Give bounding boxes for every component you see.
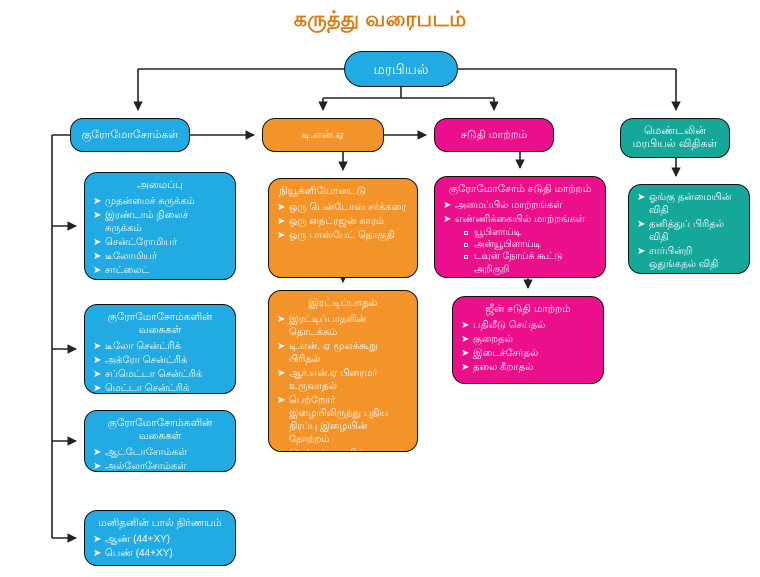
list-item-label: ஆர்.என்.ஏ பிரைமர் உருவாதல் — [289, 368, 378, 392]
arrow-bullet-icon: ➤ — [277, 313, 285, 326]
list-item-label: டி.என். ஏ மூலக்கூறு பிரிதல் — [289, 341, 378, 365]
arrow-bullet-icon: ➤ — [93, 236, 101, 249]
arrow-bullet-icon: ➤ — [277, 394, 285, 407]
list-item: ➤டீலோ சென்ட்ரிக் — [93, 340, 227, 353]
list-item-label: இரண்டாம் நிலைச் சுருக்கம் — [105, 210, 188, 234]
arrow-bullet-icon: ➤ — [277, 201, 285, 214]
list-item: ➤இரட்டிப்பாதலின் முடிவு — [277, 447, 409, 452]
detail-box-mendel-laws[interactable]: ➤ஓங்கு தன்மையின் விதி➤தனித்துப் பிரிதல் … — [628, 184, 750, 274]
list-item-label: ஆண் (44+XY) — [105, 534, 170, 545]
arrow-bullet-icon: ➤ — [93, 250, 101, 263]
detail-box-replication-list: ➤இரட்டிப்பாதலின் தொடக்கம்➤டி.என். ஏ மூலக… — [277, 313, 409, 452]
arrow-bullet-icon: ➤ — [93, 354, 101, 367]
sub-list-item-label: டவுன் நோய்க் கூட்டு அறிகுறி — [474, 251, 563, 274]
list-item-label: சென்ட்ரோமியர் — [105, 237, 177, 248]
branch-node-mutation-label: சடுதி மாற்றம் — [455, 129, 533, 142]
detail-box-nucleotide[interactable]: நியூக்ளியோடைடு ➤ஒரு பென்டோஸ் சர்க்கரை➤ஒர… — [268, 178, 418, 278]
list-item: ➤ஆண் (44+XY) — [93, 533, 227, 546]
list-item-label: மெட்டா சென்ட்ரிக் — [105, 383, 189, 394]
list-item: ➤சப்மெட்டா சென்ட்ரிக் — [93, 368, 227, 381]
list-item: ➤ஆட்டோசோம்கள் — [93, 446, 227, 459]
root-node-label: மரபியல் — [368, 61, 435, 78]
detail-box-structure-list: ➤முதன்மைச் சுருக்கம்➤இரண்டாம் நிலைச் சுர… — [93, 195, 227, 277]
detail-box-structure[interactable]: அமைப்பு ➤முதன்மைச் சுருக்கம்➤இரண்டாம் நி… — [84, 172, 236, 280]
detail-box-mendel-laws-list: ➤ஓங்கு தன்மையின் விதி➤தனித்துப் பிரிதல் … — [637, 191, 741, 271]
list-item-label: சாட்லைட் — [105, 265, 149, 276]
concept-map-canvas: கருத்து வரைபடம் — [0, 0, 760, 577]
arrow-bullet-icon: ➤ — [93, 446, 101, 459]
arrow-bullet-icon: ➤ — [277, 447, 285, 452]
list-item: ➤பதிலீடு செய்தல் — [461, 319, 595, 332]
arrow-bullet-icon: ➤ — [637, 218, 645, 231]
list-item: ➤அக்ரோ சென்ட்ரிக் — [93, 354, 227, 367]
list-item-label: பெற்றோர் இழையிலிருந்து புதிய நிரப்பு இழை… — [289, 395, 388, 445]
list-item: ➤இரண்டாம் நிலைச் சுருக்கம் — [93, 209, 227, 235]
arrow-bullet-icon: ➤ — [461, 319, 469, 332]
list-item-label: டீலோ சென்ட்ரிக் — [105, 341, 181, 352]
arrow-bullet-icon: ➤ — [93, 382, 101, 394]
branch-node-dna-label: டி.என்.ஏ — [296, 129, 351, 142]
arrow-bullet-icon: ➤ — [443, 199, 451, 212]
sub-list-item-label: அன்யூபிளாய்டி — [474, 239, 541, 250]
sub-list: யூபிளாய்டிஅன்யூபிளாய்டிடவுன் நோய்க் கூட்… — [455, 227, 597, 276]
arrow-bullet-icon: ➤ — [93, 533, 101, 546]
list-item: ➤குறைதல் — [461, 333, 595, 346]
detail-box-chromosome-types-function-title: குரோமோசோம்களின் வகைகள் — [93, 417, 227, 443]
list-item: ➤சென்ட்ரோமியர் — [93, 236, 227, 249]
detail-box-chromosome-types-function[interactable]: குரோமோசோம்களின் வகைகள் ➤ஆட்டோசோம்கள்➤அல்… — [84, 410, 236, 472]
detail-box-sex-determination-list: ➤ஆண் (44+XY)➤பெண் (44+XY) — [93, 533, 227, 560]
arrow-bullet-icon: ➤ — [93, 209, 101, 222]
list-item-label: பெண் (44+XY) — [105, 548, 173, 559]
square-bullet-icon — [464, 231, 468, 235]
list-item: ➤சார்பின்றி ஒதுங்கதல் விதி — [637, 245, 741, 271]
list-item: ➤தனித்துப் பிரிதல் விதி — [637, 218, 741, 244]
list-item-label: தலை கீறாதல் — [473, 362, 533, 373]
list-item-label: தனித்துப் பிரிதல் விதி — [649, 219, 724, 243]
arrow-bullet-icon: ➤ — [637, 191, 645, 204]
list-item: ➤முதன்மைச் சுருக்கம் — [93, 195, 227, 208]
list-item: ➤சாட்லைட் — [93, 264, 227, 277]
arrow-bullet-icon: ➤ — [93, 340, 101, 353]
arrow-bullet-icon: ➤ — [461, 333, 469, 346]
sub-list-item-label: யூபிளாய்டி — [474, 227, 521, 238]
sub-list-item: யூபிளாய்டி — [463, 227, 597, 239]
list-item: ➤அமைப்பில் மாற்றங்கள் — [443, 199, 597, 212]
arrow-bullet-icon: ➤ — [461, 347, 469, 360]
detail-box-replication-title: இரட்டிப்பாதல் — [277, 297, 409, 310]
list-item: ➤மெட்டா சென்ட்ரிக் — [93, 382, 227, 394]
branch-node-mendel-laws-label: மெண்டலின் மரபியல் விதிகள் — [621, 125, 729, 151]
list-item-label: ஒரு பாஸ்பேட் தொகுதி — [289, 230, 395, 241]
list-item-label: ஒரு பென்டோஸ் சர்க்கரை — [289, 202, 406, 213]
list-item-label: எண்ணிக்கையில் மாற்றங்கள் — [455, 214, 585, 225]
sub-list-item: டவுன் நோய்க் கூட்டு அறிகுறி — [463, 251, 597, 276]
detail-box-gene-mutation-title: ஜீன் சடுதி மாற்றம் — [461, 303, 595, 316]
list-item-label: ஓங்கு தன்மையின் விதி — [649, 192, 731, 216]
detail-box-gene-mutation[interactable]: ஜீன் சடுதி மாற்றம் ➤பதிலீடு செய்தல்➤குறை… — [452, 296, 604, 384]
arrow-bullet-icon: ➤ — [93, 460, 101, 472]
arrow-bullet-icon: ➤ — [93, 547, 101, 560]
list-item-label: முதன்மைச் சுருக்கம் — [105, 196, 195, 207]
branch-node-mutation[interactable]: சடுதி மாற்றம் — [434, 118, 554, 152]
list-item-label: பதிலீடு செய்தல் — [473, 320, 545, 331]
detail-box-chromosome-mutation-list: ➤அமைப்பில் மாற்றங்கள்➤எண்ணிக்கையில் மாற்… — [443, 199, 597, 276]
list-item: ➤டீலோமியர் — [93, 250, 227, 263]
list-item-label: சார்பின்றி ஒதுங்கதல் விதி — [649, 246, 718, 270]
root-node-heredity[interactable]: மரபியல் — [344, 51, 458, 87]
list-item: ➤எண்ணிக்கையில் மாற்றங்கள்யூபிளாய்டிஅன்யூ… — [443, 213, 597, 276]
list-item-label: அல்லோசோம்கள் — [105, 461, 186, 472]
arrow-bullet-icon: ➤ — [277, 367, 285, 380]
list-item-label: ஆட்டோசோம்கள் — [105, 447, 187, 458]
detail-box-replication[interactable]: இரட்டிப்பாதல் ➤இரட்டிப்பாதலின் தொடக்கம்➤… — [268, 290, 418, 452]
arrow-bullet-icon: ➤ — [461, 361, 469, 374]
detail-box-chromosome-mutation-title: குரோமோசோம் சடுதி மாற்றம் — [443, 183, 597, 196]
list-item: ➤ஆர்.என்.ஏ பிரைமர் உருவாதல் — [277, 367, 409, 393]
detail-box-chromosome-mutation[interactable]: குரோமோசோம் சடுதி மாற்றம் ➤அமைப்பில் மாற்… — [434, 176, 606, 278]
list-item-label: இடைச்சேர்தல் — [473, 348, 538, 359]
detail-box-nucleotide-title: நியூக்ளியோடைடு — [277, 185, 409, 198]
sub-list-item: அன்யூபிளாய்டி — [463, 239, 597, 251]
detail-box-sex-determination-title: மனிதனின் பால் நிர்ணயம் — [93, 517, 227, 530]
arrow-bullet-icon: ➤ — [93, 264, 101, 277]
list-item-label: அமைப்பில் மாற்றங்கள் — [455, 200, 562, 211]
branch-node-dna[interactable]: டி.என்.ஏ — [262, 118, 384, 152]
list-item-label: அக்ரோ சென்ட்ரிக் — [105, 355, 187, 366]
square-bullet-icon — [464, 255, 468, 259]
list-item-label: ஒரு நைட்ரஜன் காரம் — [289, 216, 384, 227]
list-item: ➤தலை கீறாதல் — [461, 361, 595, 374]
list-item: ➤ஒரு பென்டோஸ் சர்க்கரை — [277, 201, 409, 214]
arrow-bullet-icon: ➤ — [93, 368, 101, 381]
detail-box-nucleotide-list: ➤ஒரு பென்டோஸ் சர்க்கரை➤ஒரு நைட்ரஜன் காரம… — [277, 201, 409, 242]
list-item-label: இரட்டிப்பாதலின் தொடக்கம் — [289, 314, 366, 338]
detail-box-chromosome-types-shape-list: ➤டீலோ சென்ட்ரிக்➤அக்ரோ சென்ட்ரிக்➤சப்மெட… — [93, 340, 227, 394]
list-item: ➤இடைச்சேர்தல் — [461, 347, 595, 360]
detail-box-chromosome-types-shape[interactable]: குரோமோசோம்களின் வகைகள் ➤டீலோ சென்ட்ரிக்➤… — [84, 304, 236, 394]
arrow-bullet-icon: ➤ — [93, 195, 101, 208]
list-item: ➤அல்லோசோம்கள் — [93, 460, 227, 472]
list-item-label: டீலோமியர் — [105, 251, 157, 262]
page-title: கருத்து வரைபடம் — [0, 8, 760, 34]
list-item: ➤பெற்றோர் இழையிலிருந்து புதிய நிரப்பு இழ… — [277, 394, 409, 446]
list-item: ➤டி.என். ஏ மூலக்கூறு பிரிதல் — [277, 340, 409, 366]
list-item: ➤பெண் (44+XY) — [93, 547, 227, 560]
list-item-label: சப்மெட்டா சென்ட்ரிக் — [105, 369, 202, 380]
arrow-bullet-icon: ➤ — [443, 213, 451, 226]
detail-box-sex-determination[interactable]: மனிதனின் பால் நிர்ணயம் ➤ஆண் (44+XY)➤பெண்… — [84, 510, 236, 566]
list-item: ➤இரட்டிப்பாதலின் தொடக்கம் — [277, 313, 409, 339]
arrow-bullet-icon: ➤ — [277, 229, 285, 242]
detail-box-chromosome-types-function-list: ➤ஆட்டோசோம்கள்➤அல்லோசோம்கள் — [93, 446, 227, 472]
detail-box-structure-title: அமைப்பு — [93, 179, 227, 192]
arrow-bullet-icon: ➤ — [277, 340, 285, 353]
branch-node-chromosomes-label: குரோமோசோம்கள் — [76, 129, 185, 142]
arrow-bullet-icon: ➤ — [637, 245, 645, 258]
list-item: ➤ஒரு பாஸ்பேட் தொகுதி — [277, 229, 409, 242]
list-item-label: இரட்டிப்பாதலின் முடிவு — [289, 448, 398, 452]
detail-box-gene-mutation-list: ➤பதிலீடு செய்தல்➤குறைதல்➤இடைச்சேர்தல்➤தல… — [461, 319, 595, 374]
branch-node-mendel-laws[interactable]: மெண்டலின் மரபியல் விதிகள் — [620, 118, 730, 158]
list-item: ➤ஓங்கு தன்மையின் விதி — [637, 191, 741, 217]
arrow-bullet-icon: ➤ — [277, 215, 285, 228]
square-bullet-icon — [464, 243, 468, 247]
list-item-label: குறைதல் — [473, 334, 513, 345]
detail-box-chromosome-types-shape-title: குரோமோசோம்களின் வகைகள் — [93, 311, 227, 337]
branch-node-chromosomes[interactable]: குரோமோசோம்கள் — [70, 118, 190, 152]
list-item: ➤ஒரு நைட்ரஜன் காரம் — [277, 215, 409, 228]
